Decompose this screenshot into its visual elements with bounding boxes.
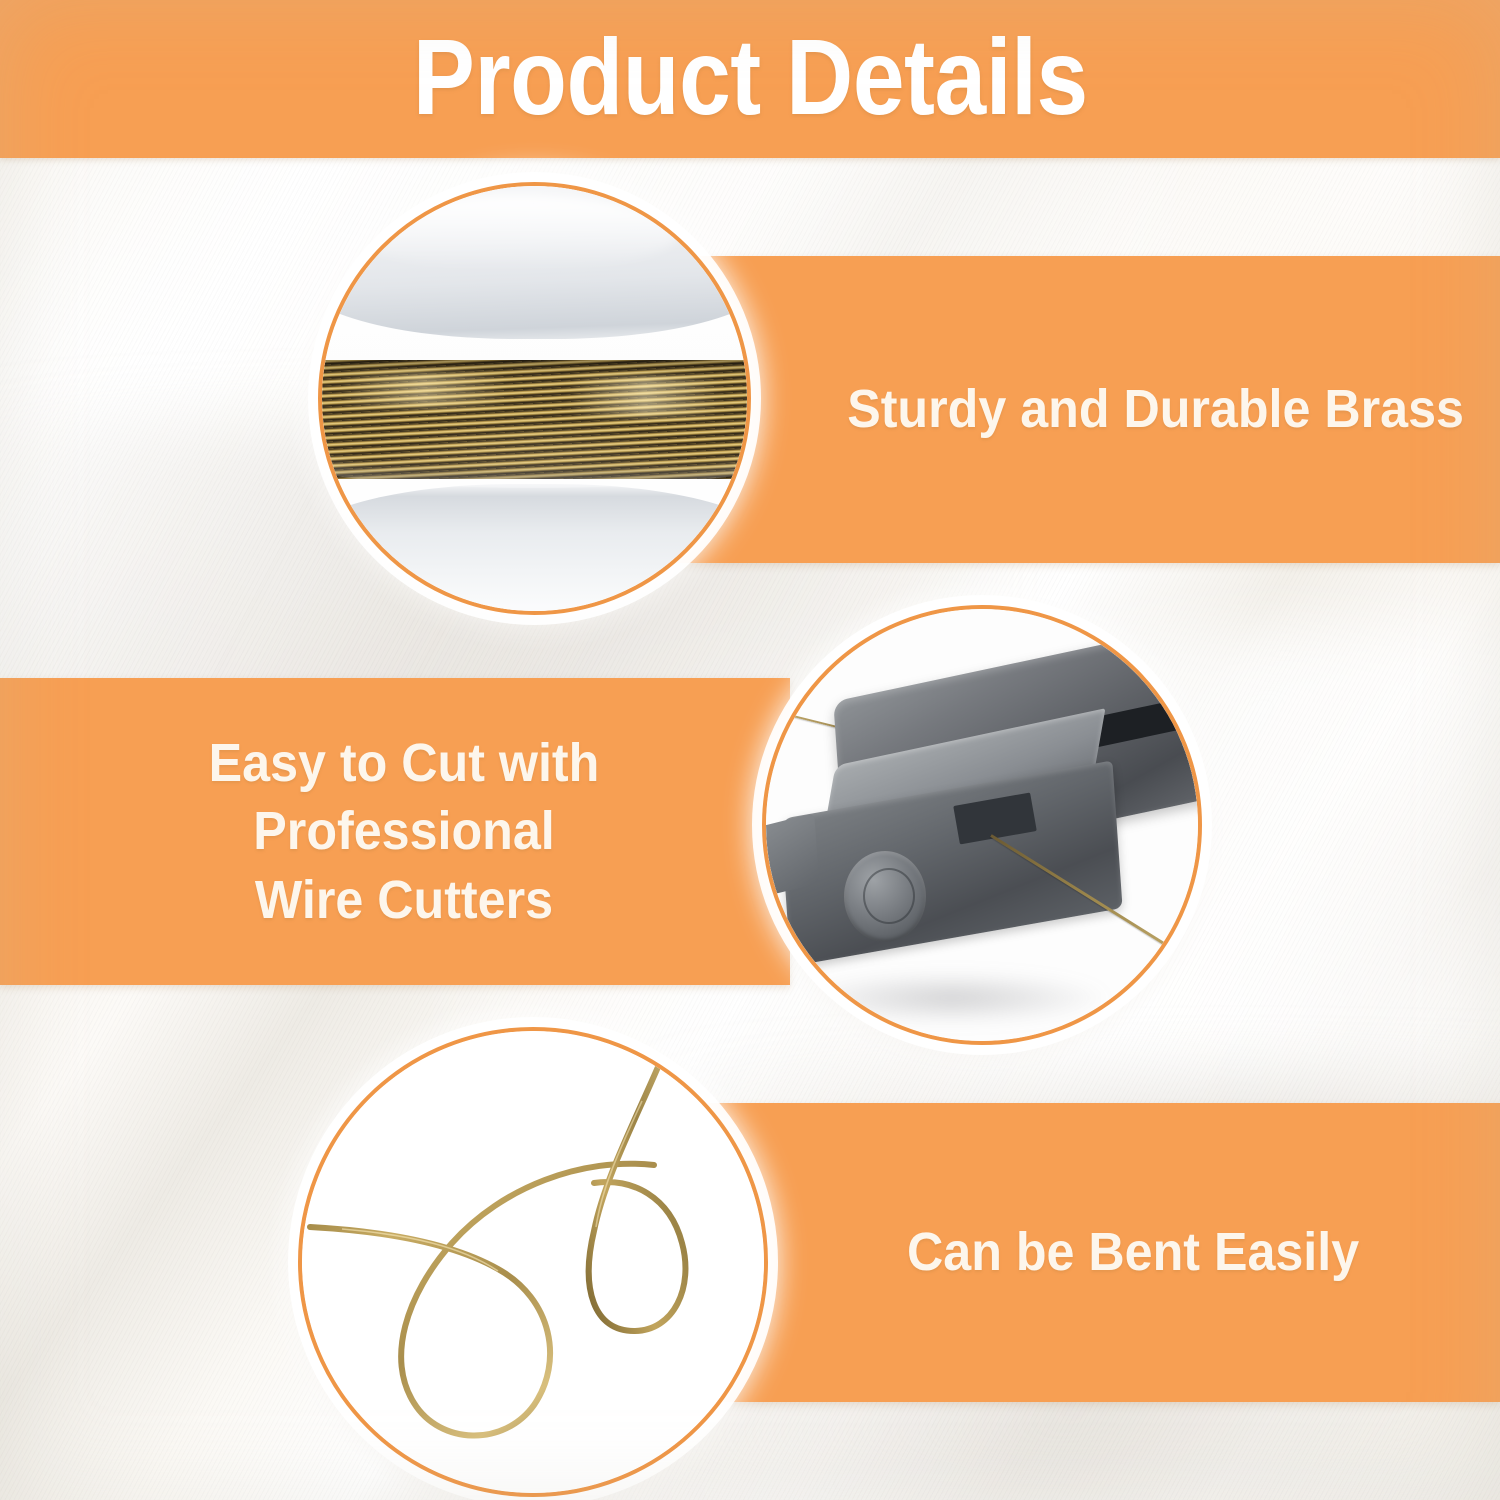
page-title: Product Details xyxy=(413,23,1088,131)
feature-label-cut-line1: Easy to Cut with Professional xyxy=(69,729,739,865)
feature-label-cut-line2: Wire Cutters xyxy=(69,866,739,934)
bent-wire-drawing xyxy=(302,1031,764,1493)
feature-image-bent-wire xyxy=(298,1027,768,1497)
feature-band-cut: Easy to Cut with Professional Wire Cutte… xyxy=(0,678,790,985)
feature-label-bend: Can be Bent Easily xyxy=(907,1218,1359,1286)
bent-wire-highlight-a xyxy=(342,1229,498,1271)
product-details-infographic: Product Details Sturdy and Durable Brass… xyxy=(0,0,1500,1500)
feature-image-wire-cutters xyxy=(762,605,1202,1045)
wire-cutter-jaws-photo xyxy=(766,609,1198,1041)
spool-bottom-flange xyxy=(322,484,747,612)
brass-wire-gloss-right xyxy=(569,377,722,415)
feature-label-brass: Sturdy and Durable Brass xyxy=(847,375,1464,443)
bent-brass-wire-loops-photo xyxy=(302,1031,764,1493)
cutter-pivot-ring xyxy=(863,868,915,924)
feature-label-cut: Easy to Cut with Professional Wire Cutte… xyxy=(69,729,739,933)
spool-top-highlight xyxy=(356,195,679,272)
brass-wire-spool-photo xyxy=(322,186,747,611)
header-banner: Product Details xyxy=(0,0,1500,158)
brass-wire-gloss-left xyxy=(339,373,509,407)
bent-wire-right-loop xyxy=(589,1067,686,1331)
cutter-cast-shadow xyxy=(792,972,1112,1024)
feature-image-brass-wire-spool xyxy=(318,182,751,615)
